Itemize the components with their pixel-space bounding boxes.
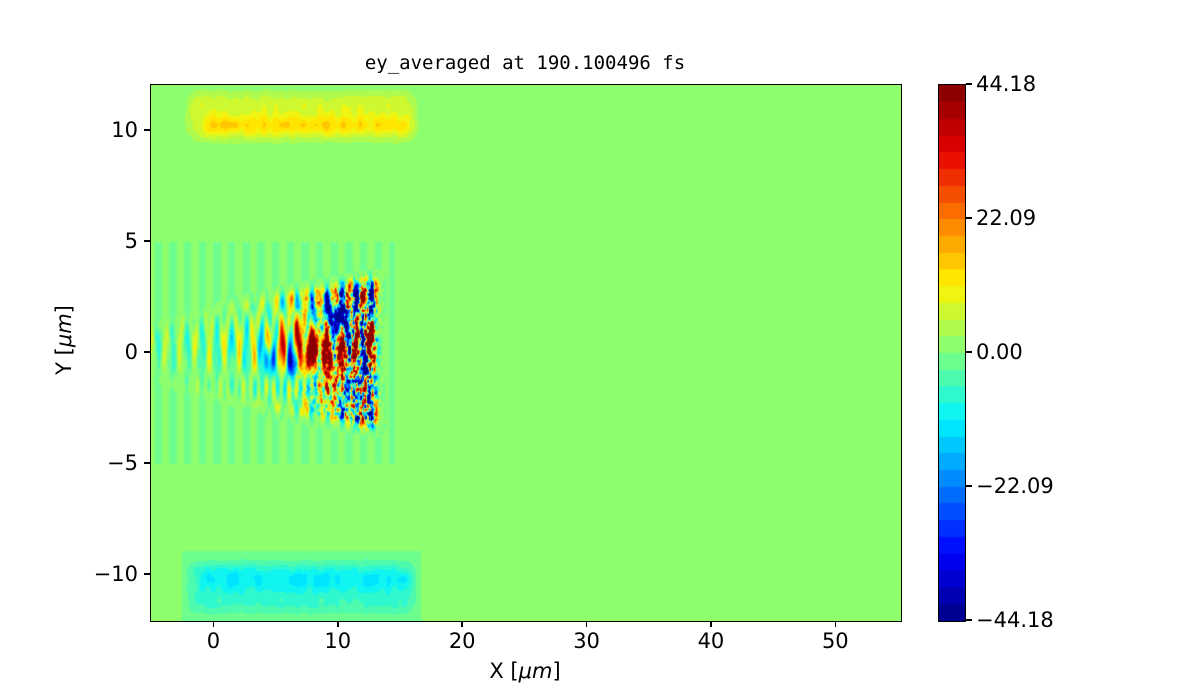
colorbar-tick-label: −44.18: [976, 608, 1054, 632]
heatmap-plot-area[interactable]: [150, 84, 902, 622]
x-tick-mark: [710, 621, 711, 627]
y-tick-label: −10: [94, 562, 138, 586]
y-tick-label: 5: [125, 229, 138, 253]
colorbar-tick-label: 0.00: [976, 340, 1023, 364]
x-tick-mark: [213, 621, 214, 627]
x-tick-mark: [586, 621, 587, 627]
colorbar-tick-mark: [966, 351, 972, 352]
page-title: ey_averaged at 190.100496 fs: [150, 52, 900, 74]
x-tick-label: 10: [324, 629, 351, 653]
x-tick-mark: [337, 621, 338, 627]
heatmap-image: [151, 85, 901, 621]
y-axis-label: Y [μm]: [52, 260, 76, 420]
x-tick-label: 50: [822, 629, 849, 653]
x-tick-label: 40: [698, 629, 725, 653]
colorbar-tick-mark: [966, 619, 972, 620]
colorbar-gradient: [939, 85, 965, 621]
colorbar-tick-mark: [966, 485, 972, 486]
colorbar-tick-mark: [966, 83, 972, 84]
x-tick-mark: [835, 621, 836, 627]
y-tick-mark: [144, 351, 150, 352]
colorbar-tick-mark: [966, 217, 972, 218]
y-tick-mark: [144, 462, 150, 463]
x-tick-label: 30: [573, 629, 600, 653]
x-tick-mark: [461, 621, 462, 627]
x-tick-label: 0: [207, 629, 220, 653]
figure-canvas: ey_averaged at 190.100496 fs 01020304050…: [0, 0, 1200, 700]
x-axis-label: X [μm]: [150, 659, 900, 683]
y-tick-label: 10: [111, 118, 138, 142]
x-tick-label: 20: [449, 629, 476, 653]
y-tick-mark: [144, 129, 150, 130]
colorbar-tick-label: 44.18: [976, 72, 1036, 96]
colorbar[interactable]: [938, 84, 966, 622]
y-tick-mark: [144, 573, 150, 574]
colorbar-tick-label: 22.09: [976, 206, 1036, 230]
colorbar-tick-label: −22.09: [976, 474, 1054, 498]
y-tick-label: 0: [125, 340, 138, 364]
y-tick-label: −5: [107, 451, 138, 475]
y-tick-mark: [144, 240, 150, 241]
